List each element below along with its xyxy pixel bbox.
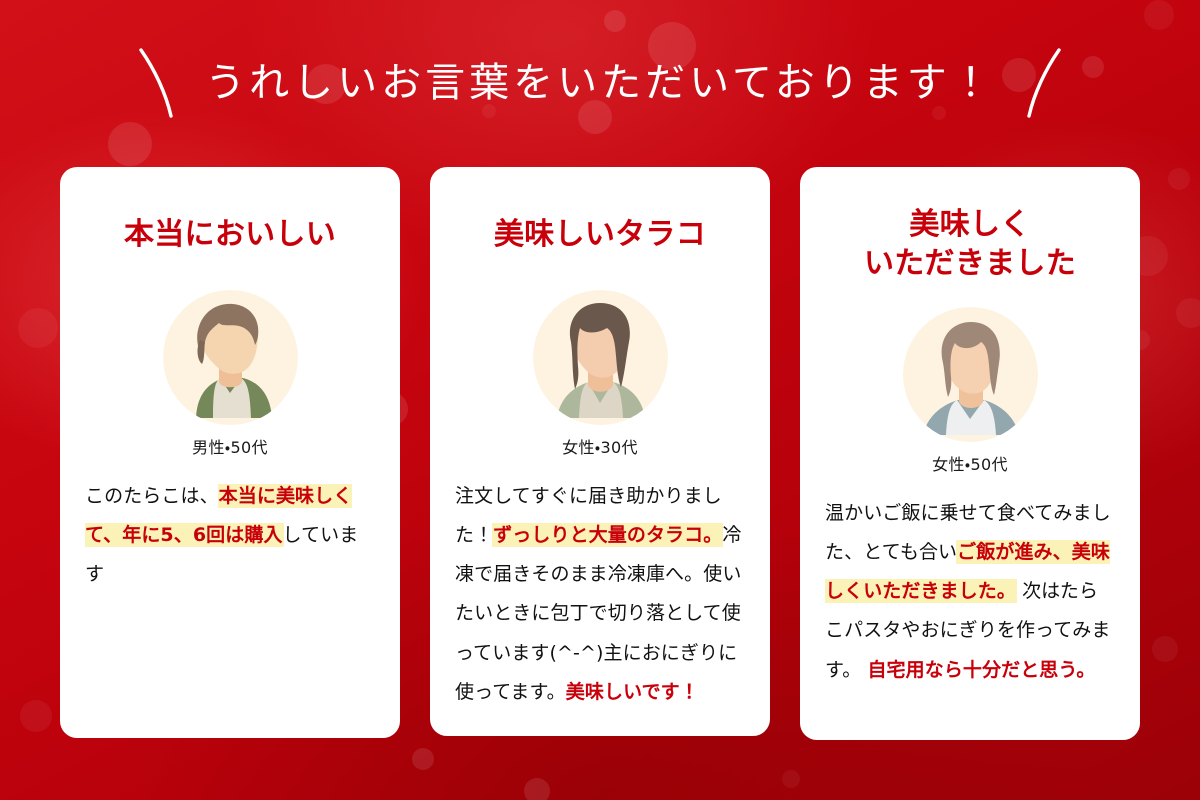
page-title: うれしいお言葉をいただいております！ (205, 63, 995, 103)
left-slash-decoration (135, 44, 179, 122)
bokeh-circle (1168, 168, 1190, 190)
right-slash-decoration (1021, 44, 1065, 122)
review-segment-emphasis: 自宅用なら十分だと思う。 (867, 659, 1095, 681)
avatar (163, 290, 298, 425)
reviewer-meta: 男性・50代 (192, 434, 268, 458)
review-segment-plain: このたらこは、 (85, 485, 219, 507)
card-title: 美味しく いただきました (864, 205, 1076, 283)
testimonial-card: 美味しく いただきました 女性・50代 温かいご飯に乗せて食べてみました (800, 167, 1140, 740)
avatar-female-30s-icon (533, 290, 668, 425)
bokeh-circle (1152, 636, 1178, 662)
testimonial-card-list: 本当においしい 男性・50代 このたらこは、本 (60, 167, 1140, 741)
avatar-female-50s-icon (903, 307, 1038, 442)
review-segment-plain: 冷凍で届きそのまま冷凍庫へ。使いたいときに包丁で切り落として使っています(^-^… (455, 524, 741, 703)
reviewer-meta: 女性・30代 (562, 434, 638, 458)
reviewer-meta: 女性・50代 (932, 451, 1008, 475)
review-body: 注文してすぐに届き助かりました！ずっしりと大量のタラコ。冷凍で届きそのまま冷凍庫… (455, 477, 745, 712)
card-title: 本当においしい (124, 215, 336, 254)
review-body: このたらこは、本当に美味しくて、年に5、6回は購入しています (85, 477, 375, 594)
testimonial-section: うれしいお言葉をいただいております！ 本当においしい (0, 0, 1200, 800)
avatar (533, 290, 668, 425)
bokeh-circle (20, 700, 52, 732)
card-title: 美味しいタラコ (494, 215, 706, 254)
bokeh-circle (782, 770, 800, 788)
bokeh-circle (524, 778, 550, 800)
review-segment-highlight: ずっしりと大量のタラコ。 (493, 524, 722, 546)
bokeh-circle (412, 748, 434, 770)
avatar-male-50s-icon (163, 290, 298, 425)
bokeh-circle (1176, 298, 1200, 328)
review-body: 温かいご飯に乗せて食べてみました、とても合いご飯が進み、美味しくいただきました。… (825, 494, 1115, 690)
bokeh-circle (108, 122, 152, 166)
review-segment-emphasis: 美味しいです！ (566, 681, 699, 703)
headline-container: うれしいお言葉をいただいております！ (0, 42, 1200, 124)
bokeh-circle (604, 10, 626, 32)
bokeh-circle (18, 308, 58, 348)
testimonial-card: 本当においしい 男性・50代 このたらこは、本 (60, 167, 400, 738)
bokeh-circle (1144, 0, 1174, 30)
testimonial-card: 美味しいタラコ 女性・30代 注文してすぐに届き助かりました！ずっしりと (430, 167, 770, 736)
avatar (903, 307, 1038, 442)
